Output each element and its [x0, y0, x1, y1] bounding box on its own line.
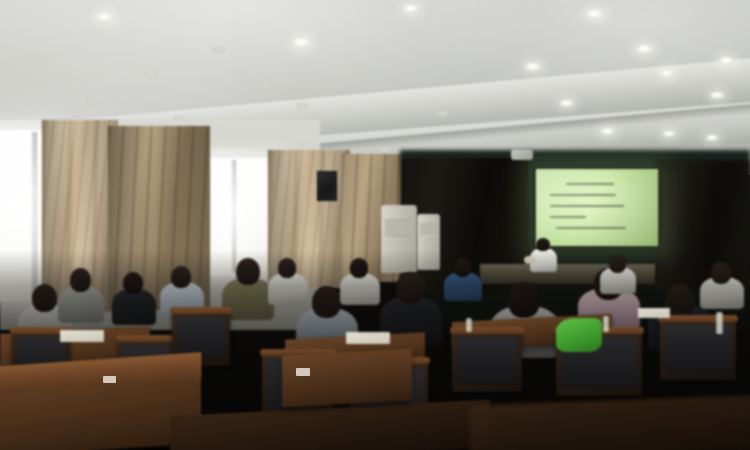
downlight — [403, 5, 420, 13]
green-bag — [556, 318, 602, 352]
downlight — [601, 128, 615, 135]
desk-midground-right — [282, 349, 412, 408]
downlight — [86, 100, 99, 106]
papers-left — [60, 330, 104, 342]
chair-mid-1-pad — [177, 317, 225, 357]
chair-mid-1-rail — [170, 307, 232, 314]
downlight — [96, 13, 115, 22]
downlight — [706, 135, 719, 141]
lecture-room-photograph: Rows of dark wooden desks and chairs occ… — [0, 0, 750, 450]
downlight — [525, 63, 542, 71]
downlight — [292, 38, 312, 48]
downlight — [260, 83, 273, 89]
downlight — [296, 103, 309, 109]
desk-label-right — [296, 368, 310, 376]
air-conditioner-vent — [385, 220, 412, 236]
chair-right-1-pad — [457, 337, 517, 383]
downlight — [663, 131, 676, 137]
water-bottle-right — [716, 312, 723, 334]
downlight — [710, 92, 725, 99]
downlight — [380, 148, 391, 153]
downlight — [212, 46, 226, 53]
downlight — [636, 45, 654, 54]
water-bottle-center — [603, 316, 609, 332]
downlight — [560, 100, 574, 107]
downlight — [586, 10, 605, 19]
downlight — [436, 110, 450, 117]
papers-center — [346, 332, 390, 344]
downlight — [660, 70, 675, 77]
ceiling-projector — [511, 149, 533, 160]
projection-screen-sheen — [536, 169, 658, 246]
papers-right — [638, 308, 670, 318]
air-conditioner-second-vent — [420, 224, 437, 236]
water-bottle-mid — [466, 318, 472, 332]
downlight — [719, 57, 735, 65]
chair-right-3-rail — [658, 315, 738, 322]
downlight — [144, 71, 159, 78]
chair-right-1-rail — [450, 327, 524, 334]
desk-label-left — [103, 376, 116, 383]
desk-foreground-far-right — [470, 395, 750, 450]
wall-speaker — [317, 171, 337, 201]
